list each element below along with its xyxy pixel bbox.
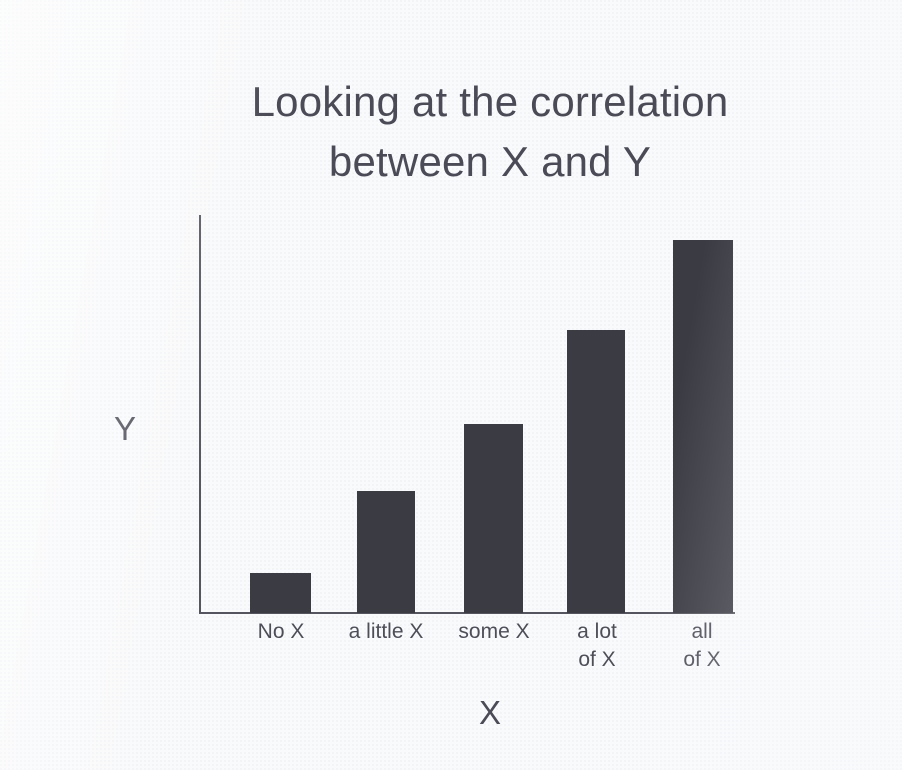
bar-3 [567, 330, 625, 613]
y-axis-title: Y [100, 410, 150, 448]
x-tick-label-3: a lot of X [537, 618, 657, 674]
chart-title: Looking at the correlation between X and… [120, 72, 860, 191]
x-tick-label-0: No X [221, 618, 341, 646]
bars-layer [199, 215, 739, 613]
scanned-chart-sheet: Looking at the correlation between X and… [0, 0, 902, 770]
x-axis-title: X [420, 694, 560, 732]
bar-4 [673, 240, 733, 613]
bar-0 [250, 573, 311, 613]
x-axis-tick-labels: No Xa little Xsome Xa lot of Xall of X [199, 618, 759, 698]
x-tick-label-4: all of X [642, 618, 762, 674]
plot-area [199, 215, 739, 615]
bar-2 [464, 424, 523, 613]
x-tick-label-2: some X [434, 618, 554, 646]
bar-1 [357, 491, 415, 613]
x-tick-label-1: a little X [326, 618, 446, 646]
